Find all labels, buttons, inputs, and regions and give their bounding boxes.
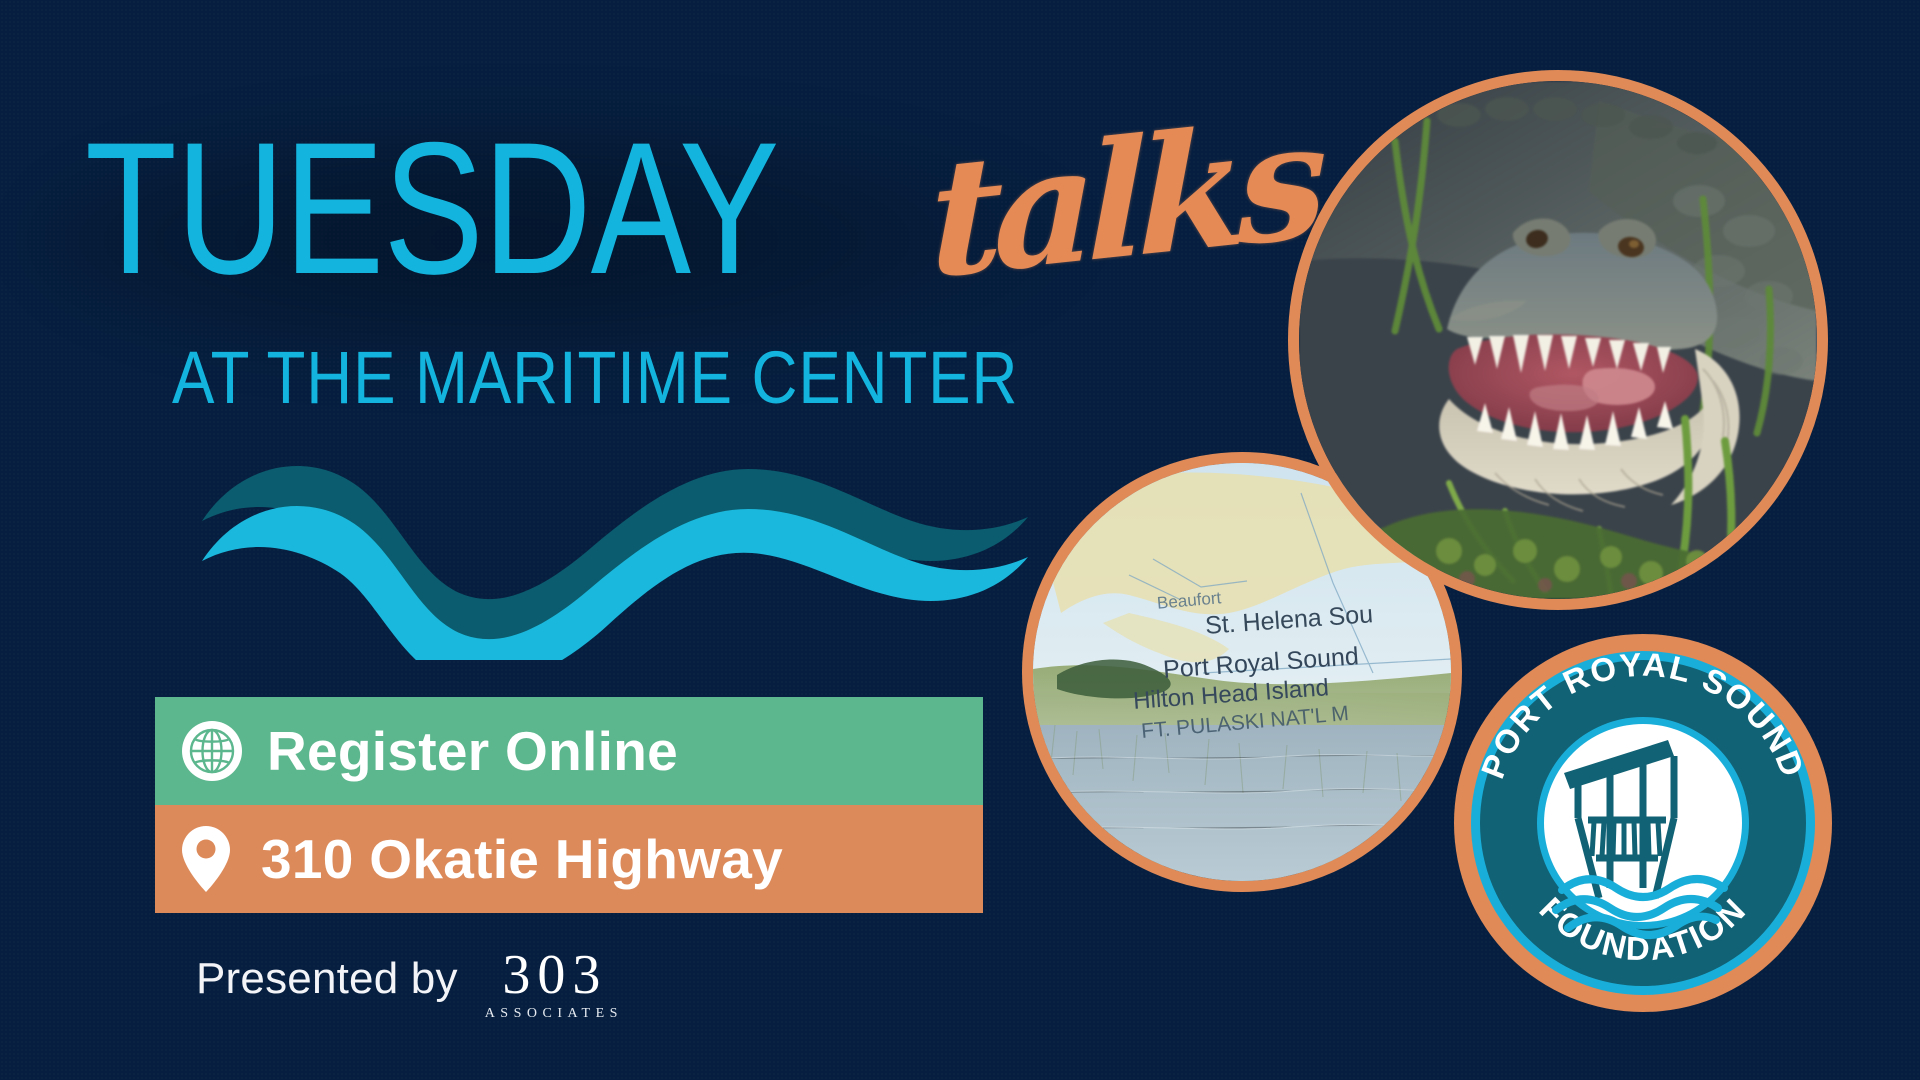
register-online-label: Register Online bbox=[267, 719, 678, 783]
sponsor-logo-303: 303 ASSOCIATES bbox=[480, 948, 623, 1022]
headline-script: talks bbox=[930, 85, 1317, 315]
headline-block: TUESDAY talks bbox=[85, 118, 1235, 308]
address-bar[interactable]: 310 Okatie Highway bbox=[155, 805, 983, 913]
register-online-bar[interactable]: Register Online bbox=[155, 697, 983, 805]
map-pin-icon bbox=[181, 825, 231, 893]
address-label: 310 Okatie Highway bbox=[261, 827, 783, 891]
sponsor-logo-word: ASSOCIATES bbox=[480, 1006, 623, 1022]
headline-primary: TUESDAY bbox=[85, 118, 779, 298]
headline-subtitle: AT THE MARITIME CENTER bbox=[172, 335, 1018, 420]
sponsor-logo-number: 303 bbox=[495, 948, 607, 1003]
wave-decoration bbox=[200, 455, 1030, 660]
promotional-poster: TUESDAY talks AT THE MARITIME CENTER Reg… bbox=[0, 0, 1920, 1080]
port-royal-sound-foundation-seal: PORT ROYAL SOUND FOUNDATION bbox=[1452, 632, 1834, 1014]
alligator-photo-circle bbox=[1288, 70, 1828, 610]
presented-by-prefix: Presented by bbox=[196, 957, 458, 1001]
alligator-photo bbox=[1299, 81, 1817, 599]
globe-icon bbox=[181, 720, 243, 782]
presented-by-block: Presented by 303 ASSOCIATES bbox=[196, 948, 623, 1022]
